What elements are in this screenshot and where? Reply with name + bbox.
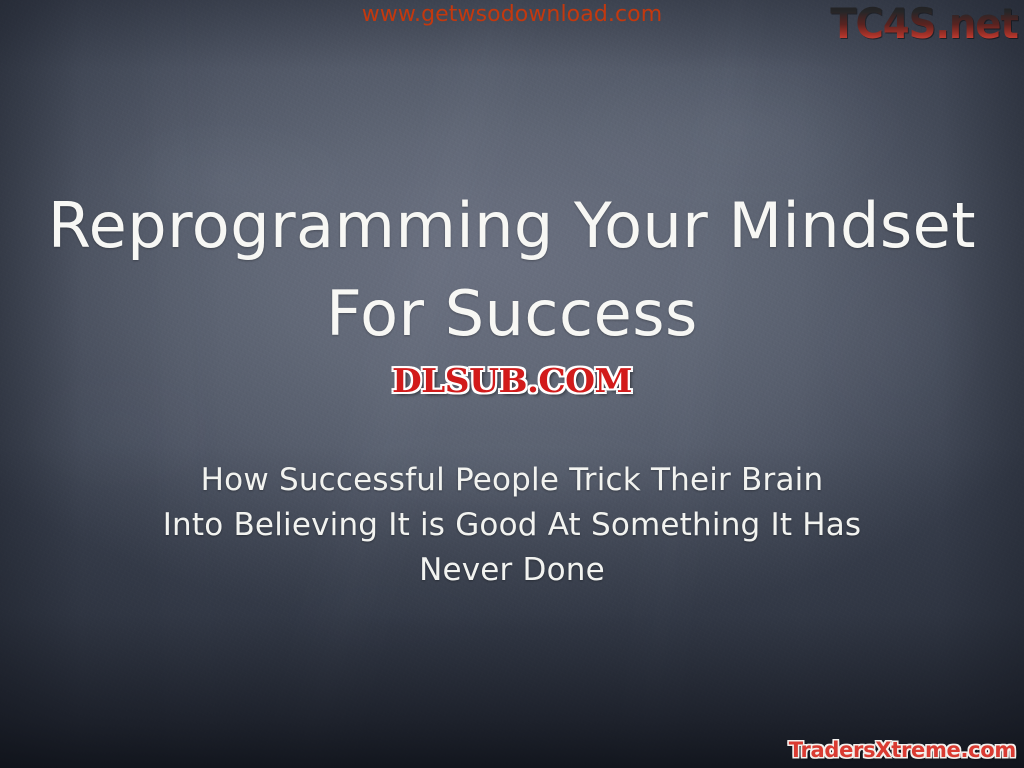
presentation-slide: www.getwsodownload.com TC4S.net Reprogra… <box>0 0 1024 768</box>
tradersxtreme-logo-watermark: TradersXtreme.com <box>789 738 1016 762</box>
slide-subtitle: How Successful People Trick Their Brain … <box>0 458 1024 593</box>
tc4s-logo-watermark: TC4S.net <box>831 0 1018 48</box>
slide-content-layer: www.getwsodownload.com TC4S.net Reprogra… <box>0 0 1024 768</box>
slide-title-line-2: For Success <box>0 270 1024 358</box>
slide-subtitle-line-2: Into Believing It is Good At Something I… <box>0 503 1024 548</box>
slide-subtitle-line-1: How Successful People Trick Their Brain <box>0 458 1024 503</box>
slide-title-line-1: Reprogramming Your Mindset <box>0 182 1024 270</box>
slide-subtitle-line-3: Never Done <box>0 548 1024 593</box>
slide-title: Reprogramming Your Mindset For Success <box>0 182 1024 358</box>
dlsub-logo-watermark: DLSUB.COM <box>0 361 1024 400</box>
